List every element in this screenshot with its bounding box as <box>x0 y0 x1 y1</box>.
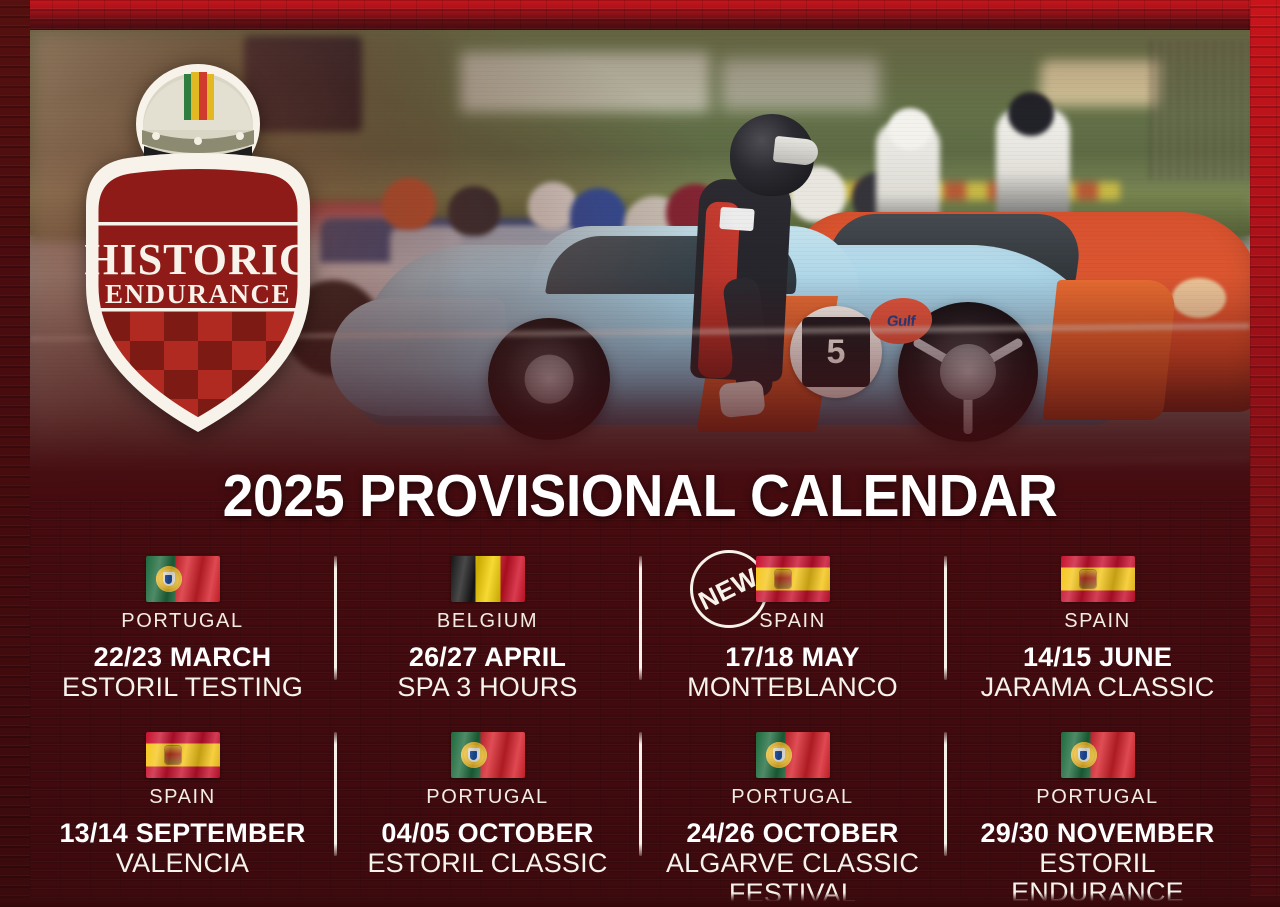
flag-wrap: NEW <box>756 556 830 602</box>
driver-suit-patch <box>719 207 754 231</box>
crew-helmet <box>448 186 500 236</box>
historic-endurance-logo: HISTORIC ENDURANCE <box>72 38 324 438</box>
spain-flag-icon <box>146 732 220 778</box>
portugal-shield-inner <box>165 575 172 584</box>
event-card[interactable]: SPAIN 13/14 SEPTEMBER VALENCIA <box>30 716 335 892</box>
event-venue: JARAMA CLASSIC <box>981 673 1215 702</box>
event-country: SPAIN <box>1064 610 1131 632</box>
portugal-flag-icon <box>756 732 830 778</box>
driver-helmet-visor <box>773 136 819 166</box>
calendar-grid: PORTUGAL 22/23 MARCH ESTORIL TESTING BEL… <box>30 540 1250 892</box>
portugal-flag-icon <box>1061 732 1135 778</box>
flag-wrap <box>146 556 220 602</box>
portugal-flag-icon <box>451 732 525 778</box>
portugal-shield <box>468 748 480 762</box>
event-country: PORTUGAL <box>121 610 243 632</box>
flag-wrap <box>146 732 220 778</box>
event-card[interactable]: NEW SPAIN 17/18 MAY MONTEBLANCO <box>640 540 945 716</box>
driver-glove <box>718 380 765 418</box>
flag-wrap <box>451 732 525 778</box>
portugal-arms <box>156 566 182 592</box>
event-date: 14/15 JUNE <box>1023 642 1172 672</box>
event-country: BELGIUM <box>437 610 538 632</box>
gulf-gt40-nose <box>324 298 516 416</box>
background-building <box>720 58 880 110</box>
event-date: 04/05 OCTOBER <box>381 818 593 848</box>
event-country: SPAIN <box>759 610 826 632</box>
logo-text-historic: HISTORIC <box>84 235 311 284</box>
event-card[interactable]: PORTUGAL 24/26 OCTOBER ALGARVE CLASSIC F… <box>640 716 945 892</box>
belgium-flag-icon <box>451 556 525 602</box>
calendar-row: SPAIN 13/14 SEPTEMBER VALENCIA PORTUGAL <box>30 716 1250 892</box>
calendar-row: PORTUGAL 22/23 MARCH ESTORIL TESTING BEL… <box>30 540 1250 716</box>
new-badge-label: NEW <box>695 564 762 615</box>
orange-car-headlight <box>1172 278 1226 318</box>
portugal-shield-inner <box>470 751 477 760</box>
portugal-shield <box>773 748 785 762</box>
event-venue: ALGARVE CLASSIC <box>666 849 919 878</box>
flag-wrap <box>1061 556 1135 602</box>
spain-arms <box>165 746 181 764</box>
background-tent <box>1038 60 1161 106</box>
event-country: SPAIN <box>149 786 216 808</box>
wheel-hub <box>525 355 574 404</box>
flag-wrap <box>756 732 830 778</box>
spain-flag-icon <box>756 556 830 602</box>
crew-helmet <box>382 178 436 230</box>
event-card[interactable]: PORTUGAL 29/30 NOVEMBER ESTORIL ENDURANC… <box>945 716 1250 892</box>
event-venue: MONTEBLANCO <box>687 673 898 702</box>
flag-wrap <box>451 556 525 602</box>
crew-member-head <box>888 108 932 150</box>
event-venue: VALENCIA <box>116 849 249 878</box>
logo-text-endurance: ENDURANCE <box>105 279 291 309</box>
poster-root: 5 Gulf <box>0 0 1280 907</box>
event-venue: SPA 3 HOURS <box>397 673 577 702</box>
spain-arms <box>1080 570 1096 588</box>
flag-wrap <box>1061 732 1135 778</box>
portugal-shield <box>1078 748 1090 762</box>
event-venue-line2: FESTIVAL <box>729 879 856 907</box>
spain-arms <box>775 570 791 588</box>
event-venue: ESTORIL TESTING <box>62 673 303 702</box>
event-venue: ESTORIL CLASSIC <box>367 849 607 878</box>
wheel-hub <box>940 344 996 400</box>
gulf-orange-stripe <box>1043 280 1178 420</box>
event-country: PORTUGAL <box>1036 786 1158 808</box>
event-card[interactable]: SPAIN 14/15 JUNE JARAMA CLASSIC <box>945 540 1250 716</box>
portugal-flag-icon <box>146 556 220 602</box>
crew-member-head <box>1008 92 1054 136</box>
event-date: 29/30 NOVEMBER <box>981 818 1215 848</box>
page-title: 2025 PROVISIONAL CALENDAR <box>38 466 1241 528</box>
portugal-shield <box>163 572 175 586</box>
event-country: PORTUGAL <box>731 786 853 808</box>
portugal-arms <box>766 742 792 768</box>
event-venue: ESTORIL ENDURANCE <box>953 849 1243 907</box>
spain-flag-icon <box>1061 556 1135 602</box>
portugal-arms <box>461 742 487 768</box>
event-date: 26/27 APRIL <box>409 642 566 672</box>
event-card[interactable]: PORTUGAL 22/23 MARCH ESTORIL TESTING <box>30 540 335 716</box>
event-card[interactable]: PORTUGAL 04/05 OCTOBER ESTORIL CLASSIC <box>335 716 640 892</box>
background-building <box>460 52 710 112</box>
event-date: 17/18 MAY <box>725 642 859 672</box>
event-date: 13/14 SEPTEMBER <box>59 818 305 848</box>
portugal-shield-inner <box>775 751 782 760</box>
portugal-arms <box>1071 742 1097 768</box>
event-date: 22/23 MARCH <box>94 642 272 672</box>
event-card[interactable]: BELGIUM 26/27 APRIL SPA 3 HOURS <box>335 540 640 716</box>
event-date: 24/26 OCTOBER <box>686 818 898 848</box>
race-number-roundel: 5 <box>790 306 882 398</box>
background-fence <box>1150 40 1250 180</box>
event-country: PORTUGAL <box>426 786 548 808</box>
portugal-shield-inner <box>1080 751 1087 760</box>
